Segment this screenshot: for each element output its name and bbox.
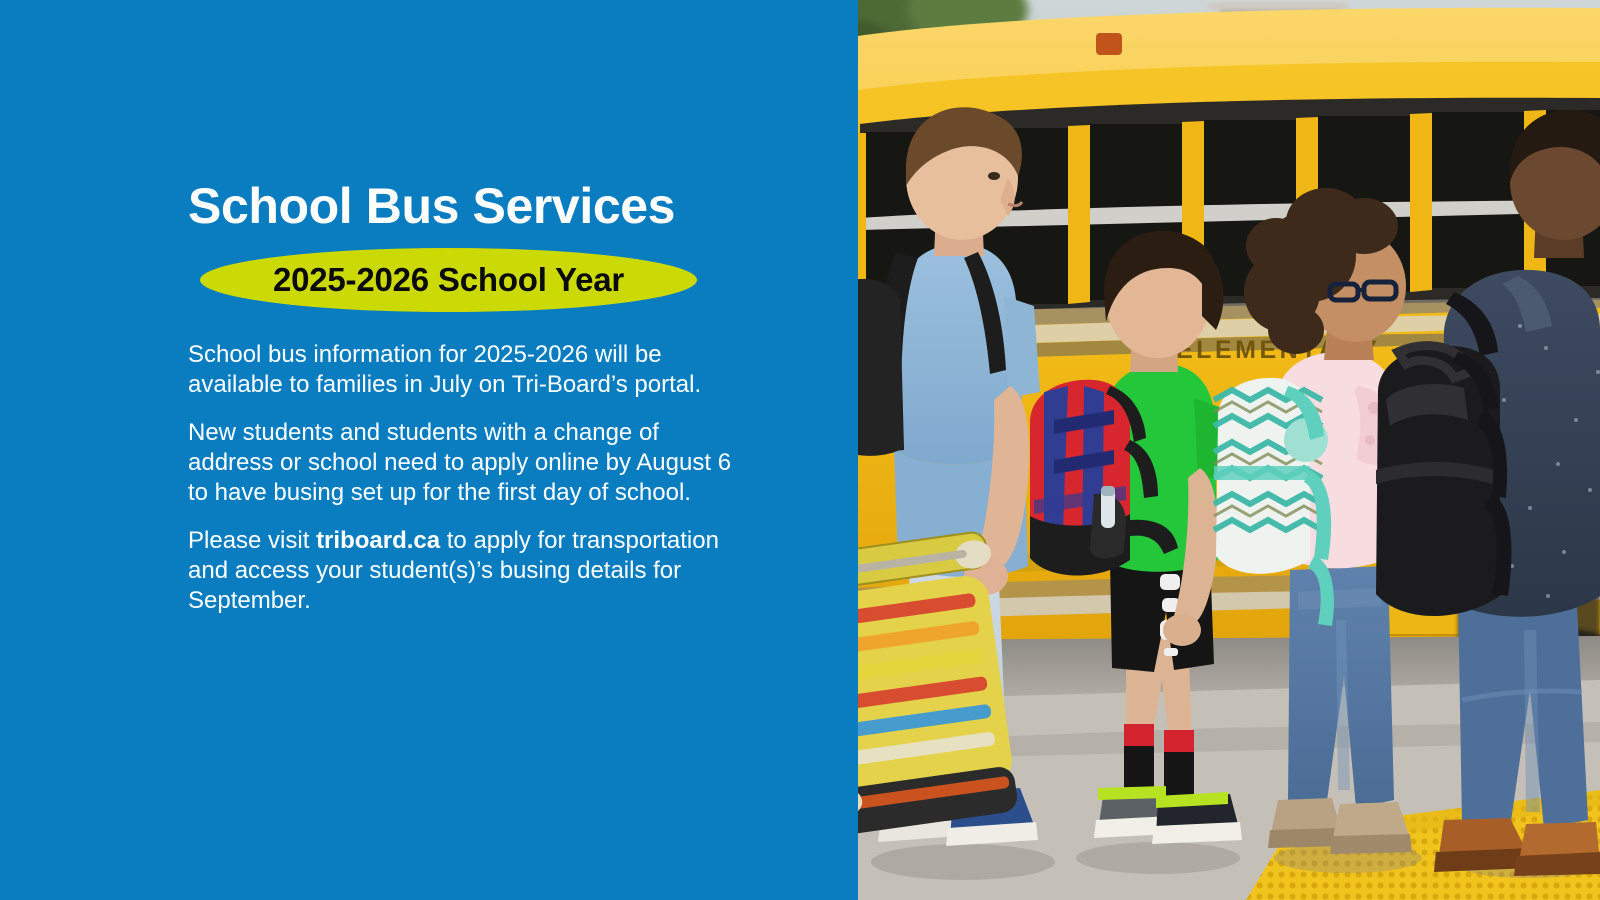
paragraph-apply-deadline: New students and students with a change … <box>188 418 733 508</box>
paragraph-visit-site: Please visit triboard.ca to apply for tr… <box>188 526 733 616</box>
paragraph-availability: School bus information for 2025-2026 wil… <box>188 340 733 400</box>
badge-label: 2025-2026 School Year <box>200 248 697 312</box>
text-panel: School Bus Services 2025-2026 School Yea… <box>0 0 858 900</box>
panel-content: School Bus Services 2025-2026 School Yea… <box>188 180 728 616</box>
backpack <box>858 279 904 456</box>
page-title: School Bus Services <box>188 180 728 233</box>
school-year-badge: 2025-2026 School Year <box>188 248 688 314</box>
bus-clearance-lamp <box>1096 33 1122 55</box>
photo-illustration: ELEMENTARY <box>858 0 1600 900</box>
site-url: triboard.ca <box>316 527 440 554</box>
students-boarding-bus-photo: ELEMENTARY <box>858 0 1600 900</box>
school-bus-services-poster: ELEMENTARY <box>0 0 1600 900</box>
body-copy: School bus information for 2025-2026 wil… <box>188 340 733 616</box>
